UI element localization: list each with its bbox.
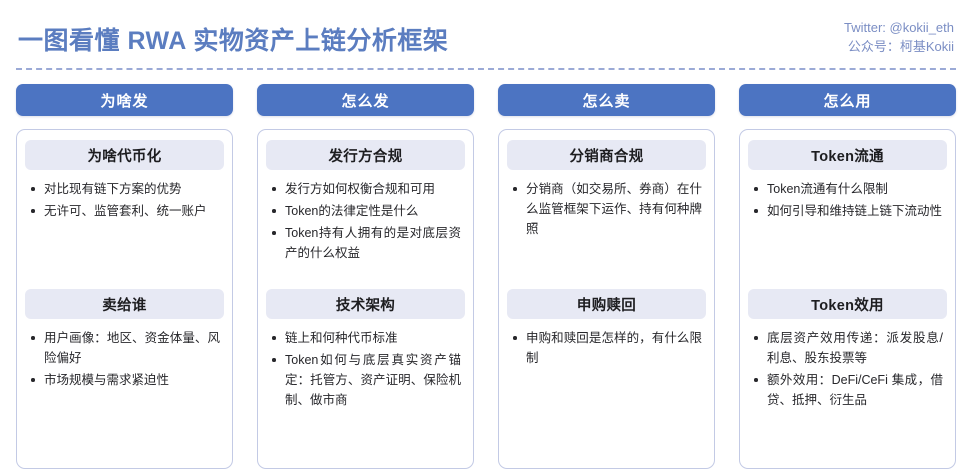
infographic-page: 一图看懂 RWA 实物资产上链分析框架 Twitter: @kokii_eth … xyxy=(0,0,972,461)
bullet-dot-icon xyxy=(31,378,35,382)
list-item: 分销商（如交易所、券商）在什么监管框架下运作、持有何种牌照 xyxy=(511,179,702,239)
bullet-list: 用户画像：地区、资金体量、风险偏好 市场规模与需求紧迫性 xyxy=(25,328,224,390)
bullet-dot-icon xyxy=(754,187,758,191)
section-title: Token流通 xyxy=(748,140,947,170)
framework-columns: 为啥发 为啥代币化 对比现有链下方案的优势 无许可、监管套利、统一账户 卖给谁 … xyxy=(16,84,956,469)
section-title: Token效用 xyxy=(748,289,947,319)
column-how-sell: 怎么卖 分销商合规 分销商（如交易所、券商）在什么监管框架下运作、持有何种牌照 … xyxy=(498,84,715,469)
section-block: 发行方合规 发行方如何权衡合规和可用 Token的法律定性是什么 Token持有… xyxy=(266,140,465,275)
bullet-dot-icon xyxy=(31,187,35,191)
page-header: 一图看懂 RWA 实物资产上链分析框架 Twitter: @kokii_eth … xyxy=(0,0,972,78)
section-block: 申购赎回 申购和赎回是怎样的，有什么限制 xyxy=(507,289,706,370)
section-title: 发行方合规 xyxy=(266,140,465,170)
list-item-text: 额外效用：DeFi/CeFi 集成，借贷、抵押、衍生品 xyxy=(767,373,943,407)
column-how-issue: 怎么发 发行方合规 发行方如何权衡合规和可用 Token的法律定性是什么 Tok… xyxy=(257,84,474,469)
section-block: 技术架构 链上和何种代币标准 Token如何与底层真实资产锚定：托管方、资产证明… xyxy=(266,289,465,412)
section-title: 技术架构 xyxy=(266,289,465,319)
section-title: 申购赎回 xyxy=(507,289,706,319)
list-item-text: 申购和赎回是怎样的，有什么限制 xyxy=(526,331,702,365)
list-item-text: 市场规模与需求紧迫性 xyxy=(44,373,169,387)
list-item: Token流通有什么限制 xyxy=(752,179,943,199)
list-item: 无许可、监管套利、统一账户 xyxy=(29,201,220,221)
list-item: 链上和何种代币标准 xyxy=(270,328,461,348)
page-title: 一图看懂 RWA 实物资产上链分析框架 xyxy=(18,24,448,58)
list-item-text: Token的法律定性是什么 xyxy=(285,204,418,218)
bullet-list: 底层资产效用传递：派发股息/利息、股东投票等 额外效用：DeFi/CeFi 集成… xyxy=(748,328,947,410)
column-card: 分销商合规 分销商（如交易所、券商）在什么监管框架下运作、持有何种牌照 申购赎回… xyxy=(498,129,715,469)
list-item-text: Token如何与底层真实资产锚定：托管方、资产证明、保险机制、做市商 xyxy=(285,353,461,407)
list-item: 对比现有链下方案的优势 xyxy=(29,179,220,199)
column-card: 发行方合规 发行方如何权衡合规和可用 Token的法律定性是什么 Token持有… xyxy=(257,129,474,469)
section-block: 卖给谁 用户画像：地区、资金体量、风险偏好 市场规模与需求紧迫性 xyxy=(25,289,224,392)
list-item-text: Token流通有什么限制 xyxy=(767,182,888,196)
list-item-text: 分销商（如交易所、券商）在什么监管框架下运作、持有何种牌照 xyxy=(526,182,702,236)
list-item: 额外效用：DeFi/CeFi 集成，借贷、抵押、衍生品 xyxy=(752,370,943,410)
list-item-text: 如何引导和维持链上链下流动性 xyxy=(767,204,942,218)
section-title: 分销商合规 xyxy=(507,140,706,170)
list-item-text: 链上和何种代币标准 xyxy=(285,331,398,345)
bullet-dot-icon xyxy=(754,336,758,340)
column-header: 怎么发 xyxy=(257,84,474,116)
list-item-text: 底层资产效用传递：派发股息/利息、股东投票等 xyxy=(767,331,943,365)
list-item-text: 发行方如何权衡合规和可用 xyxy=(285,182,435,196)
bullet-dot-icon xyxy=(31,336,35,340)
bullet-dot-icon xyxy=(754,378,758,382)
column-card: Token流通 Token流通有什么限制 如何引导和维持链上链下流动性 Toke… xyxy=(739,129,956,469)
list-item: Token的法律定性是什么 xyxy=(270,201,461,221)
column-header: 怎么用 xyxy=(739,84,956,116)
bullet-dot-icon xyxy=(272,231,276,235)
list-item: 底层资产效用传递：派发股息/利息、股东投票等 xyxy=(752,328,943,368)
bullet-dot-icon xyxy=(513,187,517,191)
section-title: 为啥代币化 xyxy=(25,140,224,170)
bullet-dot-icon xyxy=(272,209,276,213)
bullet-list: 分销商（如交易所、券商）在什么监管框架下运作、持有何种牌照 xyxy=(507,179,706,275)
section-block: Token效用 底层资产效用传递：派发股息/利息、股东投票等 额外效用：DeFi… xyxy=(748,289,947,412)
bullet-dot-icon xyxy=(31,209,35,213)
header-dashed-divider xyxy=(16,68,956,70)
bullet-list: 发行方如何权衡合规和可用 Token的法律定性是什么 Token持有人拥有的是对… xyxy=(266,179,465,275)
bullet-list: 链上和何种代币标准 Token如何与底层真实资产锚定：托管方、资产证明、保险机制… xyxy=(266,328,465,410)
list-item: 市场规模与需求紧迫性 xyxy=(29,370,220,390)
list-item-text: 对比现有链下方案的优势 xyxy=(44,182,182,196)
column-how-use: 怎么用 Token流通 Token流通有什么限制 如何引导和维持链上链下流动性 … xyxy=(739,84,956,469)
list-item: 如何引导和维持链上链下流动性 xyxy=(752,201,943,221)
bullet-dot-icon xyxy=(513,336,517,340)
list-item: 用户画像：地区、资金体量、风险偏好 xyxy=(29,328,220,368)
credits-block: Twitter: @kokii_eth 公众号：柯基Kokii xyxy=(844,18,954,56)
bullet-list: 申购和赎回是怎样的，有什么限制 xyxy=(507,328,706,368)
list-item-text: 无许可、监管套利、统一账户 xyxy=(44,204,207,218)
bullet-list: 对比现有链下方案的优势 无许可、监管套利、统一账户 xyxy=(25,179,224,275)
column-header: 怎么卖 xyxy=(498,84,715,116)
bullet-dot-icon xyxy=(272,336,276,340)
list-item: Token持有人拥有的是对底层资产的什么权益 xyxy=(270,223,461,263)
list-item: 申购和赎回是怎样的，有什么限制 xyxy=(511,328,702,368)
list-item: 发行方如何权衡合规和可用 xyxy=(270,179,461,199)
column-why-issue: 为啥发 为啥代币化 对比现有链下方案的优势 无许可、监管套利、统一账户 卖给谁 … xyxy=(16,84,233,469)
section-block: 分销商合规 分销商（如交易所、券商）在什么监管框架下运作、持有何种牌照 xyxy=(507,140,706,275)
column-header: 为啥发 xyxy=(16,84,233,116)
credit-twitter: Twitter: @kokii_eth xyxy=(844,18,954,37)
list-item-text: Token持有人拥有的是对底层资产的什么权益 xyxy=(285,226,461,260)
list-item-text: 用户画像：地区、资金体量、风险偏好 xyxy=(44,331,220,365)
bullet-dot-icon xyxy=(272,358,276,362)
bullet-list: Token流通有什么限制 如何引导和维持链上链下流动性 xyxy=(748,179,947,275)
list-item: Token如何与底层真实资产锚定：托管方、资产证明、保险机制、做市商 xyxy=(270,350,461,410)
bullet-dot-icon xyxy=(754,209,758,213)
section-title: 卖给谁 xyxy=(25,289,224,319)
section-block: 为啥代币化 对比现有链下方案的优势 无许可、监管套利、统一账户 xyxy=(25,140,224,275)
section-block: Token流通 Token流通有什么限制 如何引导和维持链上链下流动性 xyxy=(748,140,947,275)
bullet-dot-icon xyxy=(272,187,276,191)
column-card: 为啥代币化 对比现有链下方案的优势 无许可、监管套利、统一账户 卖给谁 用户画像… xyxy=(16,129,233,469)
credit-wechat: 公众号：柯基Kokii xyxy=(844,37,954,56)
